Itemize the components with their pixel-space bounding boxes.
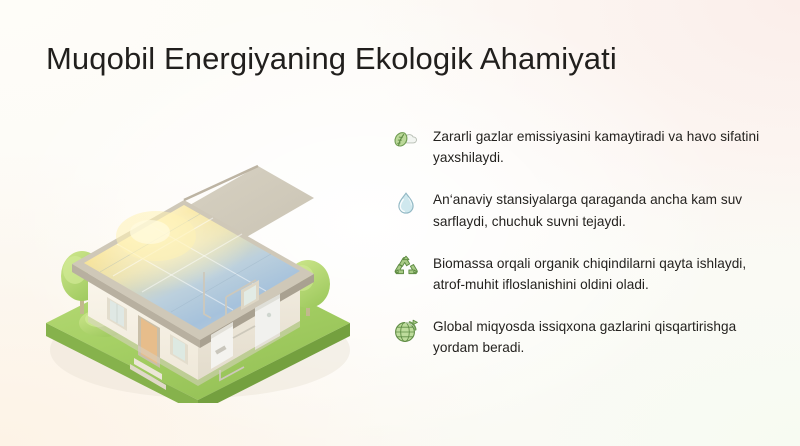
benefits-list: Zararli gazlar emissiyasini kamaytiradi … bbox=[392, 126, 774, 359]
list-item: Biomassa orqali organik chiqindilarni qa… bbox=[392, 253, 774, 295]
list-item: Zararli gazlar emissiyasini kamaytiradi … bbox=[392, 126, 774, 168]
recycle-icon bbox=[392, 254, 420, 282]
list-item-text: Global miqyosda issiqxona gazlarini qisq… bbox=[433, 316, 774, 358]
list-item: Global miqyosda issiqxona gazlarini qisq… bbox=[392, 316, 774, 358]
leaf-cloud-icon bbox=[392, 127, 420, 155]
list-item-text: Biomassa orqali organik chiqindilarni qa… bbox=[433, 253, 774, 295]
list-item-text: Zararli gazlar emissiyasini kamaytiradi … bbox=[433, 126, 774, 168]
list-item: An‘anaviy stansiyalarga qaraganda ancha … bbox=[392, 189, 774, 231]
isometric-solar-house-illustration bbox=[28, 118, 368, 403]
water-drop-icon bbox=[392, 190, 420, 218]
slide-canvas: Muqobil Energiyaning Ekologik Ahamiyati bbox=[0, 0, 800, 446]
page-title: Muqobil Energiyaning Ekologik Ahamiyati bbox=[46, 40, 766, 77]
list-item-text: An‘anaviy stansiyalarga qaraganda ancha … bbox=[433, 189, 774, 231]
globe-arrow-icon bbox=[392, 317, 420, 345]
